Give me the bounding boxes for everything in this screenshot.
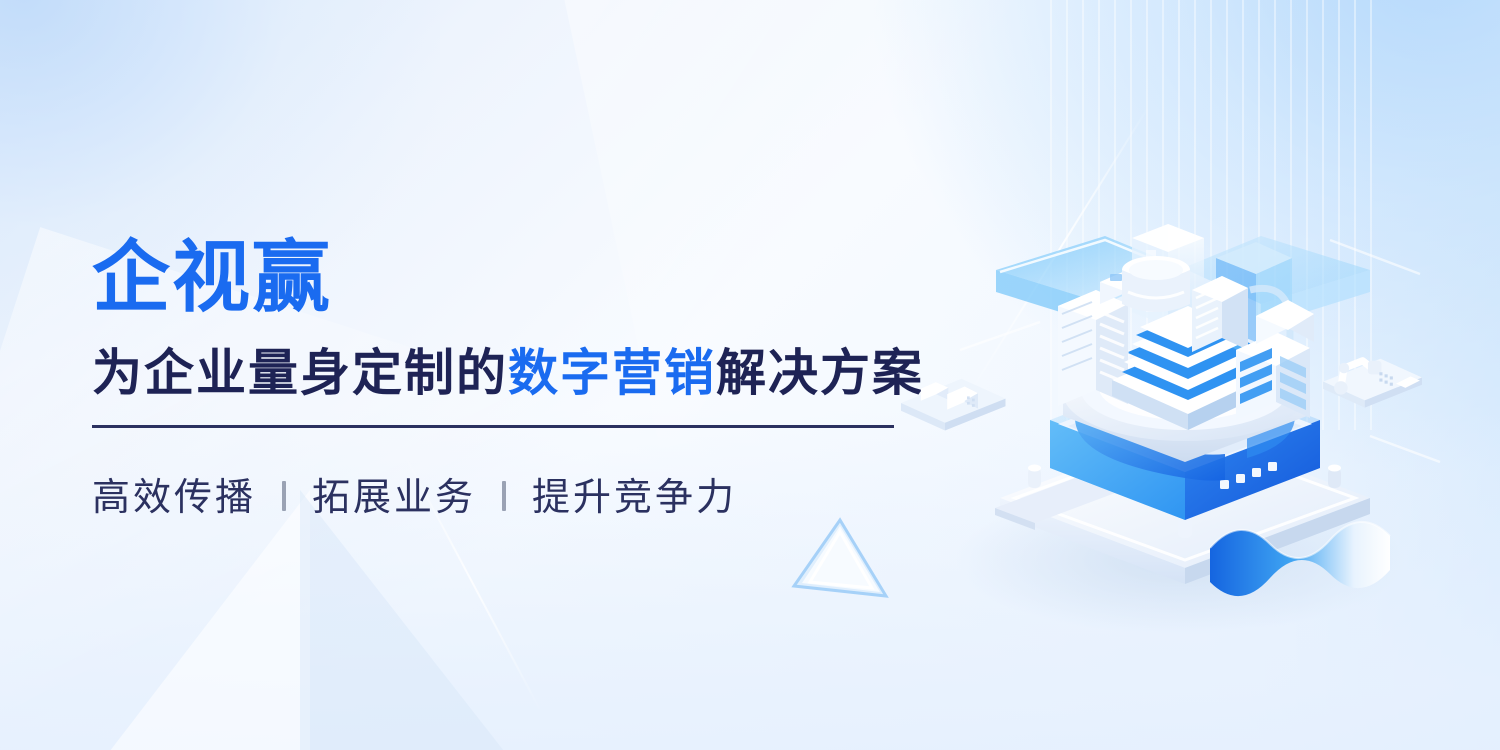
tagline-item-3: 提升竞争力 bbox=[532, 466, 737, 521]
headline: 为企业量身定制的数字营销解决方案 bbox=[92, 346, 922, 401]
tagline-item-1: 高效传播 bbox=[92, 466, 256, 521]
tagline: 高效传播 拓展业务 提升竞争力 bbox=[92, 466, 922, 521]
tagline-item-2: 拓展业务 bbox=[312, 466, 476, 521]
tagline-separator-1 bbox=[282, 481, 286, 511]
mini-city-platform bbox=[901, 379, 1006, 431]
headline-lead: 为企业量身定制的 bbox=[92, 345, 508, 401]
robot-arm-platform bbox=[1323, 359, 1422, 408]
hero-copy-block: 企视赢 为企业量身定制的数字营销解决方案 高效传播 拓展业务 提升竞争力 bbox=[92, 238, 922, 521]
background-triangle-right bbox=[300, 490, 550, 750]
building-cylinder bbox=[1122, 256, 1190, 312]
background-triangle-left bbox=[80, 490, 310, 750]
headline-highlight: 数字营销 bbox=[508, 345, 716, 401]
tagline-separator-2 bbox=[502, 481, 506, 511]
divider-rule bbox=[92, 425, 894, 428]
headline-trail: 解决方案 bbox=[716, 345, 924, 401]
brand-name: 企视赢 bbox=[92, 238, 922, 316]
isometric-city-illustration bbox=[900, 230, 1460, 650]
hero-banner: 企视赢 为企业量身定制的数字营销解决方案 高效传播 拓展业务 提升竞争力 bbox=[0, 0, 1500, 750]
